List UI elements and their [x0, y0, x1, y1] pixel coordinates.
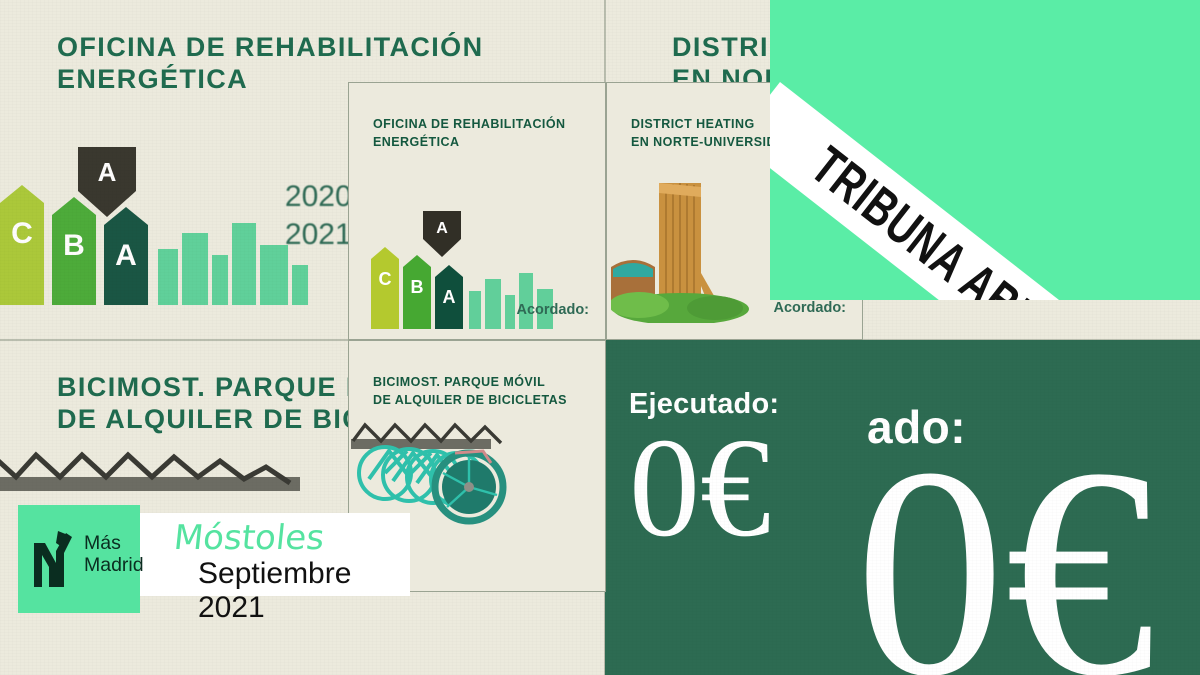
mas-madrid-wordmark: Más Madrid: [84, 533, 144, 577]
card-amount: Acordado: Construcción y puesta en march…: [716, 276, 846, 340]
executed-panel: Ejecutado: 0€ ado: 0€: [605, 340, 1200, 675]
card-title: BICIMOST. PARQUE MÓVIL DE ALQUILER DE BI…: [373, 374, 567, 410]
svg-text:B: B: [63, 229, 85, 262]
card-oficina-rehabilitacion-energetica[interactable]: OFICINA DE REHABILITACIÓN ENERGÉTICA C B…: [348, 82, 606, 340]
caption-date: Septiembre 2021: [198, 557, 410, 625]
svg-text:A: A: [98, 157, 117, 187]
card-title: DISTRICT HEATING EN NORTE-UNIVERSIDAD: [631, 116, 795, 152]
mas-madrid-logo[interactable]: Más Madrid: [18, 505, 140, 613]
caption-city: Móstoles: [172, 518, 326, 558]
executed-value-large: 0€: [855, 422, 1155, 675]
background-amount-oficina: 2020: 2021:: [180, 178, 360, 255]
caption-box: Móstoles Septiembre 2021: [140, 513, 410, 596]
background-amount-district: Construcción y puesta en marcha: [840, 176, 1130, 291]
svg-text:C: C: [11, 217, 33, 250]
card-title: OFICINA DE REHABILITACIÓN ENERGÉTICA: [373, 116, 566, 152]
card-amount: Acordado: 2020: 500.000 € 2021: 50.000 €: [419, 278, 589, 340]
svg-text:A: A: [115, 239, 137, 272]
card-amount-label: Acordado:: [716, 298, 846, 320]
executed-value-small: 0€: [629, 416, 771, 558]
svg-text:C: C: [379, 269, 392, 289]
card-district-heating[interactable]: DISTRICT HEATING EN NORTE-UNIVERSIDAD Ac…: [606, 82, 863, 340]
card-amount-label: Acordado:: [419, 300, 589, 322]
mas-madrid-m-icon: [32, 529, 80, 589]
svg-text:A: A: [436, 220, 448, 237]
